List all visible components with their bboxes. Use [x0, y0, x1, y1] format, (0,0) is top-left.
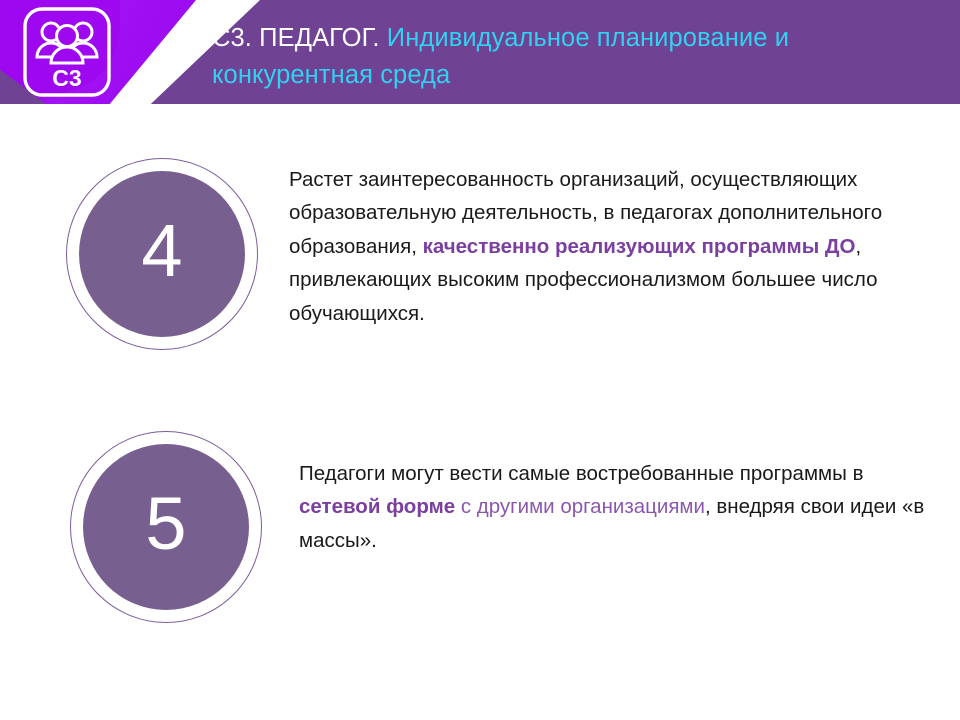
- number-badge-value: 4: [141, 214, 182, 294]
- slide-content: 4 Растет заинтересованность организаций,…: [0, 104, 960, 720]
- number-badge-4: 4: [66, 158, 258, 350]
- text-segment-2: качественно реализующих программы ДО: [423, 235, 856, 258]
- text-segment-2: сетевой форме: [299, 495, 455, 518]
- bullet-text-4: Растет заинтересованность организаций, о…: [289, 163, 909, 330]
- page-title: С3. ПЕДАГОГ. Индивидуальное планирование…: [212, 20, 942, 94]
- group-of-people-icon: С3: [22, 6, 112, 98]
- number-badge-value: 5: [145, 487, 186, 567]
- number-badge-5: 5: [70, 431, 262, 623]
- number-badge-disc: 4: [79, 171, 245, 337]
- text-segment-1: Педагоги могут вести самые востребованны…: [299, 462, 863, 485]
- number-badge-disc: 5: [83, 444, 249, 610]
- slide-header: С3 С3. ПЕДАГОГ. Индивидуальное планирова…: [0, 0, 960, 104]
- text-segment-3: с другими организациями: [455, 495, 705, 518]
- page-title-prefix: С3. ПЕДАГОГ.: [212, 24, 380, 52]
- bullet-text-5: Педагоги могут вести самые востребованны…: [299, 457, 927, 557]
- logo-badge-label: С3: [52, 65, 81, 91]
